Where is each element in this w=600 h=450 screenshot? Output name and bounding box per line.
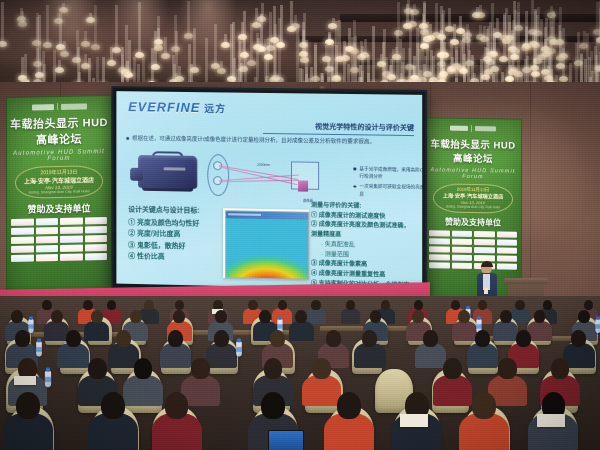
projection-screen: EVERFINE远方 视觉光学特性的设计与评价关键 根据在述，可通过成像亮度计/…	[111, 86, 427, 296]
audience-member-head	[515, 300, 524, 310]
water-bottle	[29, 319, 34, 333]
audience-member-head	[534, 310, 546, 323]
pendant-lamp	[364, 39, 367, 55]
pendant-lamp	[157, 28, 160, 41]
pendant-lamp	[303, 13, 306, 59]
pendant-lamp	[380, 54, 383, 63]
device-body	[138, 155, 197, 189]
sponsor-logo-partner-10	[36, 236, 59, 243]
bullet-dot-icon	[126, 137, 129, 140]
pendant-lamp	[267, 38, 270, 57]
sponsor-logo-partner-05	[429, 238, 450, 244]
pendant-lamp	[429, 24, 432, 36]
pendant-lamp	[255, 8, 258, 24]
device-brand-label	[164, 167, 186, 170]
pendant-lamp	[372, 26, 375, 85]
pendant-lamp	[193, 28, 196, 69]
banner-title-cn-right: 车载抬头显示 HUD	[425, 136, 521, 152]
audience-member-head	[191, 358, 210, 379]
pendant-lamp	[314, 43, 317, 78]
audience-member-head	[478, 300, 487, 310]
banner-venue-en: Anting, Shanghai Auto City, Ruili Hotel	[18, 189, 100, 195]
sponsor-logo-tmt	[85, 244, 108, 251]
audience-member-head	[500, 310, 512, 323]
pendant-lamp	[540, 19, 543, 56]
pendant-lamp	[89, 13, 92, 19]
audience-member-shoulders	[354, 343, 385, 368]
audience-member-head	[261, 392, 285, 419]
audience-member-head	[215, 310, 227, 323]
pendant-lamp	[360, 41, 363, 56]
pendant-lamp	[214, 24, 217, 65]
sponsor-logo-cyg	[36, 245, 59, 252]
logo-divider-right	[471, 125, 472, 132]
everfine-brand: EVERFINE	[128, 99, 200, 115]
sponsor-logo-partner-03	[60, 218, 83, 225]
audience-member-shoulders	[152, 413, 202, 450]
sponsor-logo-tmt	[497, 255, 518, 261]
banner-date-box-right: 2019年11月13日 上海·安亭·汽车城瑞立酒店 Nov 13, 2019 A…	[433, 183, 513, 213]
everfine-logo: EVERFINE远方	[128, 99, 226, 115]
pendant-lamp	[426, 36, 429, 74]
pendant-lamp	[138, 2, 141, 54]
pendant-lamp	[1, 2, 4, 43]
audience-member-head	[278, 300, 287, 310]
pendant-lamp	[84, 31, 87, 43]
pendant-lamp	[583, 31, 586, 45]
pendant-lamp	[455, 50, 458, 66]
pendant-lamp	[84, 54, 87, 65]
audience-member-head	[571, 330, 586, 347]
audience-member-head	[16, 392, 40, 419]
audience-member-head	[214, 330, 229, 347]
audience-member-head	[51, 310, 63, 323]
audience-member-head	[83, 300, 92, 310]
partner-logo-right	[475, 126, 496, 131]
audience-member-head	[414, 300, 423, 310]
slide-left-list-title: 设计关键点与设计目标:	[128, 204, 219, 217]
sponsor-logo-partner-12	[85, 235, 108, 242]
audience-member-head	[295, 310, 307, 323]
audience-member-head	[248, 300, 257, 310]
audience-member-head	[381, 300, 390, 310]
audience-member-head	[264, 358, 283, 379]
audience-member-head	[326, 330, 341, 347]
audience-member-head	[412, 310, 424, 323]
everfine-brand-cn: 远方	[204, 104, 226, 115]
audience-member-head	[551, 358, 570, 379]
sponsor-logo-epson	[452, 231, 473, 237]
sponsor-logo-partner-03	[474, 231, 495, 237]
banner-title-en-right: Automotive HUD Summit Forum	[425, 167, 521, 181]
pendant-lamp	[466, 24, 469, 35]
audience-member-head	[88, 358, 107, 379]
audience-member-shoulders	[467, 343, 498, 368]
speaker-hair	[481, 261, 493, 267]
slide-left-list: 设计关键点与设计目标: ① 亮度及颜色均匀性好② 亮度/对比度高③ 鬼影低，散热…	[128, 204, 219, 264]
slide-top-bullet-text: 根据在述，可通过成像亮度计/成像色度计进行定量检测分析，且对成像公差及分析软件的…	[132, 136, 375, 146]
audience-member-head	[578, 310, 590, 323]
pendant-lamp	[526, 56, 529, 84]
podium-top	[504, 278, 548, 284]
pendant-lamp	[224, 34, 227, 45]
audience-member-head	[130, 310, 142, 323]
pendant-lamp	[448, 8, 451, 28]
audience-member-head	[362, 330, 377, 347]
audience-member-shoulders	[452, 321, 477, 341]
pendant-lamp	[423, 1, 426, 31]
pendant-lamp	[459, 16, 462, 30]
pendant-lamp	[534, 11, 537, 44]
device-lens	[130, 168, 143, 181]
audience-member-head	[458, 310, 470, 323]
banner-title-cn2-right: 高峰论坛	[425, 150, 521, 166]
sponsor-logo-partner-17	[429, 262, 450, 268]
pendant-lamp	[121, 54, 124, 70]
audience-member-head	[11, 310, 23, 323]
sponsor-logo-cyg	[452, 255, 473, 261]
diagram-distance-label: 2000mm	[257, 163, 270, 167]
optical-ray-diagram: 2000mm 虚像面	[205, 150, 325, 202]
pendant-lamp	[545, 18, 548, 53]
sponsor-logo-partner-10	[452, 247, 473, 253]
sponsor-logo-epson	[36, 218, 59, 225]
audience-member-shoulders	[160, 343, 191, 368]
audience-member-head	[370, 310, 382, 323]
pendant-lamp	[453, 24, 456, 41]
audience-member-head	[168, 330, 183, 347]
pendant-lamp	[77, 47, 80, 84]
audience-member-head	[311, 300, 320, 310]
audience-member-head	[270, 330, 285, 347]
audience-member-head	[101, 392, 125, 419]
sponsor-logo-partner-04	[497, 231, 518, 237]
pendant-lamp	[58, 60, 61, 70]
slide-right-bullet-1: 一次采集即可获取全视场的亮度与色度分布信息	[353, 183, 422, 201]
audience-member-shoulders	[302, 375, 341, 406]
audience-member-head	[144, 300, 153, 310]
slide-right-list: 测量与评价的关键: ① 成像亮度计的测试速度快② 成像亮度计亮度及颜色测试准确，…	[311, 202, 420, 291]
pendant-lamp	[476, 7, 479, 15]
pendant-lamp	[21, 57, 24, 77]
pendant-lamp	[550, 6, 553, 13]
heatmap-canvas	[225, 210, 309, 280]
image-spot	[298, 181, 308, 192]
pendant-lamp	[178, 66, 181, 79]
luminance-uniformity-heatmap	[223, 208, 309, 280]
sponsor-logo-partner-08	[85, 226, 108, 233]
slide-right-bullet-0: 基于光学成像原理，采用高阶CCD传感系统进行检测分析	[353, 165, 422, 182]
pendant-lamp	[220, 61, 223, 70]
sponsor-logo-v	[36, 227, 59, 234]
sponsor-logo-partner-11	[60, 236, 83, 243]
slide-title: 视觉光学特性的设计与评价关键	[263, 121, 414, 136]
sponsor-logo-partner-09	[429, 246, 450, 252]
pendant-lamp	[487, 26, 490, 71]
pendant-lamp	[399, 39, 402, 82]
pendant-lamp	[328, 34, 331, 68]
sponsor-logo-partner-12	[497, 247, 518, 253]
audience-member-head	[337, 392, 361, 419]
sponsor-logo-partner-09	[11, 237, 34, 244]
audience-member-head	[475, 330, 490, 347]
device-base	[142, 188, 193, 192]
audience-member-head	[312, 358, 331, 379]
audience-member-head	[259, 310, 271, 323]
organizer-logo-right	[450, 126, 468, 131]
banner-title-cn2: 高峰论坛	[7, 130, 111, 148]
banner-logo-row-right	[425, 124, 521, 133]
handout-paper	[14, 376, 36, 386]
sponsor-logo-grid-left	[7, 214, 111, 265]
audience-member-head	[134, 358, 153, 379]
pendant-lamp	[63, 41, 66, 53]
pendant-lamp	[435, 3, 438, 34]
pendant-lamp	[397, 2, 400, 32]
pendant-lamp	[468, 50, 471, 62]
banner-date-box: 2019年11月13日 上海·安亭·汽车城瑞立酒店 Nov 13, 2019 A…	[15, 165, 103, 199]
sponsor-logo-partner-20	[497, 263, 518, 269]
audience-member-shoulders	[289, 321, 314, 341]
pendant-lamp	[338, 20, 341, 58]
pendant-lamp	[296, 24, 299, 89]
banner-title-cn: 车载抬头显示 HUD	[7, 114, 111, 132]
slide-right-bullets: 基于光学成像原理，采用高阶CCD传感系统进行检测分析一次采集即可获取全视场的亮度…	[313, 164, 422, 202]
pendant-lamp	[385, 57, 388, 73]
water-bottle	[236, 341, 242, 356]
pendant-lamp	[260, 14, 263, 48]
pendant-lamp	[294, 15, 297, 24]
presentation-slide: EVERFINE远方 视觉光学特性的设计与评价关键 根据在述，可通过成像亮度计/…	[116, 91, 422, 290]
pendant-lamp	[562, 48, 565, 56]
pendant-lamp	[278, 18, 281, 79]
audience-member-shoulders	[84, 321, 109, 341]
sponsor-logo-partner-11	[474, 247, 495, 253]
pendant-lamp	[46, 5, 49, 44]
pendant-lamp	[473, 73, 476, 80]
audience-member-head	[443, 358, 462, 379]
pendant-lamp	[151, 48, 154, 83]
sponsor-logo-partner-04	[85, 217, 108, 224]
pendant-lamp	[512, 20, 515, 69]
pendant-lamp	[558, 25, 561, 41]
audience-member-head	[173, 310, 185, 323]
sponsor-logo-partner-13	[429, 254, 450, 260]
slide-left-item-3: ④ 性价比高	[128, 251, 219, 264]
audience-member-head	[498, 358, 517, 379]
speaker-badge	[484, 288, 488, 294]
water-bottle	[36, 341, 42, 356]
pendant-lamp	[164, 37, 167, 55]
sponsor-logo-dt	[11, 219, 34, 226]
pendant-lamp	[416, 43, 419, 84]
audience-member-shoulders	[493, 321, 518, 341]
audience-member-shoulders	[341, 308, 361, 324]
pendant-lamp	[36, 48, 39, 81]
pendant-lamp	[411, 10, 414, 24]
pendant-lamp	[115, 5, 118, 49]
audience	[0, 296, 600, 450]
sponsor-logo-partner-19	[60, 254, 83, 261]
sponsor-logo-partner-20	[85, 253, 108, 260]
handout-paper	[400, 414, 428, 427]
sponsor-logo-grid-right	[425, 227, 521, 273]
audience-member-shoulders	[415, 343, 446, 368]
audience-member-head	[165, 392, 189, 419]
banner-venue-en-right: Anting, Shanghai Auto City, Ruili Hotel	[436, 204, 510, 209]
sponsor-logo-partner-17	[11, 255, 34, 262]
pendant-lamp	[250, 23, 253, 62]
pendant-lamp	[62, 3, 65, 9]
pendant-lamp	[125, 25, 128, 72]
banner-title-en: Automotive HUD Summit Forum	[7, 149, 111, 163]
pendant-lamp	[94, 5, 97, 46]
partner-logo	[61, 103, 87, 110]
banner-logo-row	[7, 102, 111, 111]
pendant-lamp	[59, 13, 62, 46]
audience-member-head	[66, 330, 81, 347]
sponsor-logo-partner-07	[60, 227, 83, 234]
audience-member-head	[472, 392, 496, 419]
sponsor-logo-partner-18	[452, 263, 473, 269]
water-bottle	[596, 319, 600, 333]
audience-member-shoulders	[433, 375, 472, 406]
pendant-lamp	[479, 25, 482, 36]
sponsor-logo-v	[452, 239, 473, 245]
audience-member-shoulders	[206, 343, 237, 368]
audience-member-head	[516, 330, 531, 347]
audience-member-shoulders	[123, 375, 162, 406]
audience-member-shoulders	[324, 413, 374, 450]
logo-divider	[57, 103, 58, 110]
audience-member-shoulders	[88, 413, 138, 450]
pendant-lamp	[243, 11, 246, 54]
audience-member-head	[116, 330, 131, 347]
pendant-lamp	[274, 24, 277, 78]
pendant-lamp	[430, 50, 433, 83]
audience-member-head	[423, 330, 438, 347]
audience-member-head	[346, 300, 355, 310]
slide-top-bullet: 根据在述，可通过成像亮度计/成像色度计进行定量检测分析，且对成像公差及分析软件的…	[126, 135, 411, 147]
sponsor-logo-partner-15	[60, 245, 83, 252]
pendant-lamp	[496, 18, 499, 34]
pendant-lamp	[348, 28, 351, 48]
heatmap-window-titlebar	[226, 211, 308, 220]
sponsor-banner-left: 车载抬头显示 HUD 高峰论坛 Automotive HUD Summit Fo…	[6, 95, 112, 313]
imaging-luminance-meter-photo	[130, 151, 201, 196]
audience-member-shoulders	[57, 343, 88, 368]
pendant-lamp	[353, 20, 356, 50]
water-bottle	[45, 371, 51, 388]
audience-member-head	[175, 300, 184, 310]
sponsor-logo-partner-13	[11, 246, 34, 253]
handout-paper	[537, 414, 565, 427]
laptop[interactable]	[268, 430, 304, 450]
audience-member-head	[107, 300, 116, 310]
organizer-logo	[32, 104, 54, 110]
conference-photo: 车载抬头显示 HUD 高峰论坛 Automotive HUD Summit Fo…	[0, 0, 600, 450]
pendant-lamp	[493, 34, 496, 68]
sponsor-logo-dt	[429, 230, 450, 236]
pendant-lamp	[21, 11, 24, 23]
audience-member-head	[15, 330, 30, 347]
pendant-lamp	[332, 18, 335, 25]
sponsor-logo-partner-05	[11, 228, 34, 235]
audience-member-head	[42, 300, 51, 310]
sponsor-logo-partner-07	[474, 239, 495, 245]
sponsor-logo-partner-08	[497, 239, 518, 245]
audience-member-shoulders	[459, 413, 509, 450]
audience-member-head	[91, 310, 103, 323]
pendant-lamp	[533, 43, 536, 67]
audience-member-shoulders	[3, 413, 53, 450]
pendant-lamp	[517, 2, 520, 27]
sponsor-logo-partner-18	[36, 254, 59, 261]
pendant-lamp	[187, 1, 190, 35]
